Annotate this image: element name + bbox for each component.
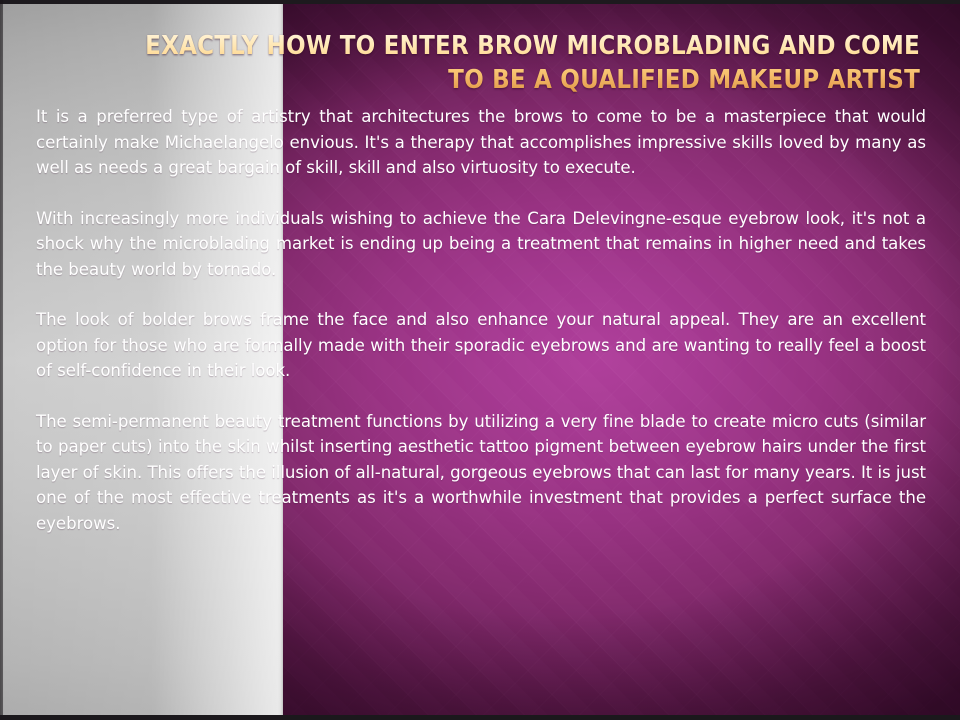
body-paragraph-3: The look of bolder brows frame the face … (36, 307, 926, 384)
slide-frame-top-border (0, 0, 960, 4)
slide-body-text: It is a preferred type of artistry that … (36, 104, 926, 536)
presentation-slide: Exactly how to enter brow microblading a… (0, 0, 960, 720)
body-paragraph-4: The semi-permanent beauty treatment func… (36, 409, 926, 537)
slide-title: Exactly how to enter brow microblading a… (124, 29, 920, 97)
body-paragraph-1: It is a preferred type of artistry that … (36, 104, 926, 181)
body-paragraph-2: With increasingly more individuals wishi… (36, 206, 926, 283)
slide-frame-bottom-border (0, 715, 960, 720)
slide-frame-left-border (0, 0, 3, 720)
